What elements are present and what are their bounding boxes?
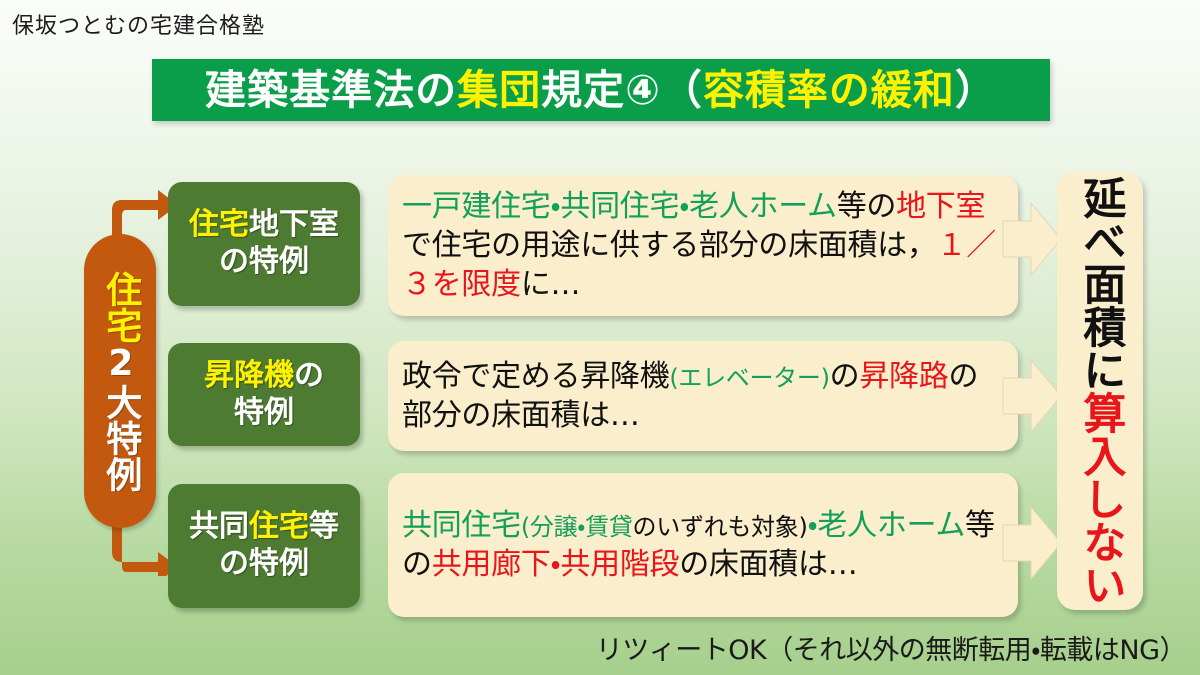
row-2-part-3: 昇降路 xyxy=(859,359,948,394)
title-segment-highlight-2: 容積率の緩和 xyxy=(703,66,955,114)
label-row-1-highlight: 住宅 xyxy=(189,207,249,242)
page-title: 建築基準法の集団規定④（容積率の緩和） xyxy=(205,70,997,111)
title-segment-1: 建築基準法の xyxy=(205,66,457,114)
row-1-part-1: 等 xyxy=(837,189,867,224)
label-row-1-line2: の特例 xyxy=(219,244,309,279)
label-row-3-rest: 等 xyxy=(309,509,339,544)
label-box-row-2-text: 昇降機の 特例 xyxy=(204,358,324,431)
title-banner: 建築基準法の集団規定④（容積率の緩和） xyxy=(152,59,1050,121)
left-pill-label: 住宅2大特例 xyxy=(102,271,139,492)
label-box-row-3[interactable]: 共同住宅等 の特例 xyxy=(168,484,360,608)
left-pill-rest: 2大特例 xyxy=(100,343,141,492)
brand-title: 保坂つとむの宅建合格塾 xyxy=(12,8,265,40)
title-segment-3: 規定④（ xyxy=(541,66,703,114)
label-row-2-rest: の xyxy=(294,358,324,393)
row-3-part-0: 共同住宅 xyxy=(402,508,521,543)
title-segment-5: ） xyxy=(955,66,997,114)
slide-canvas: 保坂つとむの宅建合格塾 建築基準法の集団規定④（容積率の緩和） 住宅2大特例 住… xyxy=(0,0,1200,675)
footer-note: リツィートOK（それ以外の無断転用・転載はNG） xyxy=(596,628,1186,667)
left-pill-group: 住宅2大特例 xyxy=(72,186,182,576)
label-row-3-prefix: 共同 xyxy=(189,509,249,544)
chevron-arrow-row-3-icon xyxy=(1001,503,1063,583)
row-1-part-4: で住宅の用途に供する部分の床面積は， xyxy=(402,228,937,263)
label-box-row-1-text: 住宅地下室 の特例 xyxy=(189,207,339,280)
label-row-3-line2: の特例 xyxy=(219,546,309,581)
content-box-row-3-text: 共同住宅(分譲・賃貸のいずれも対象)・老人ホーム等の共用廊下・共用階段の床面積は… xyxy=(402,506,1002,584)
row-3-part-6: の床面積は… xyxy=(679,547,857,582)
row-2-part-0: 政令で定める昇降機 xyxy=(402,359,669,394)
title-segment-highlight-1: 集団 xyxy=(457,66,541,114)
row-3-part-3: ・老人ホーム xyxy=(808,508,966,543)
row-3-part-2: のいずれも対象) xyxy=(633,513,808,541)
label-box-row-3-text: 共同住宅等 の特例 xyxy=(189,509,339,582)
left-pill: 住宅2大特例 xyxy=(84,234,156,528)
chevron-arrow-row-2-icon xyxy=(1001,356,1063,436)
label-box-row-2[interactable]: 昇降機の 特例 xyxy=(168,343,360,446)
row-2-part-1: (エレベーター) xyxy=(669,364,829,392)
label-row-2-line2: 特例 xyxy=(234,395,294,430)
left-pill-highlight: 住宅 xyxy=(100,271,141,343)
row-1-part-0: 一戸建住宅・共同住宅・老人ホーム xyxy=(402,189,837,224)
row-1-part-2: の xyxy=(866,189,896,224)
label-box-row-1[interactable]: 住宅地下室 の特例 xyxy=(168,182,360,306)
content-box-row-1: 一戸建住宅・共同住宅・老人ホーム等の地下室で住宅の用途に供する部分の床面積は，１… xyxy=(388,175,1018,316)
label-row-2-highlight: 昇降機 xyxy=(204,358,294,393)
row-2-part-2: の xyxy=(830,359,860,394)
conclusion-text: 延べ面積に算入しない xyxy=(1078,176,1122,606)
conclusion-panel: 延べ面積に算入しない xyxy=(1057,172,1143,610)
row-1-part-6: に… xyxy=(521,267,580,302)
row-3-part-5: 共用廊下・共用階段 xyxy=(432,547,680,582)
row-3-part-1: (分譲・賃貸 xyxy=(521,513,633,541)
content-box-row-2-text: 政令で定める昇降機(エレベーター)の昇降路の部分の床面積は… xyxy=(402,357,1002,435)
conclusion-black-part: 延べ面積に xyxy=(1076,176,1126,391)
label-row-1-rest: 地下室 xyxy=(249,207,339,242)
row-1-part-3: 地下室 xyxy=(896,189,985,224)
content-box-row-3: 共同住宅(分譲・賃貸のいずれも対象)・老人ホーム等の共用廊下・共用階段の床面積は… xyxy=(388,473,1018,617)
content-box-row-2: 政令で定める昇降機(エレベーター)の昇降路の部分の床面積は… xyxy=(388,341,1018,451)
content-box-row-1-text: 一戸建住宅・共同住宅・老人ホーム等の地下室で住宅の用途に供する部分の床面積は，１… xyxy=(402,187,1002,304)
conclusion-red-part: 算入しない xyxy=(1076,391,1126,606)
label-row-3-highlight: 住宅 xyxy=(249,509,309,544)
chevron-arrow-row-1-icon xyxy=(1001,199,1063,279)
